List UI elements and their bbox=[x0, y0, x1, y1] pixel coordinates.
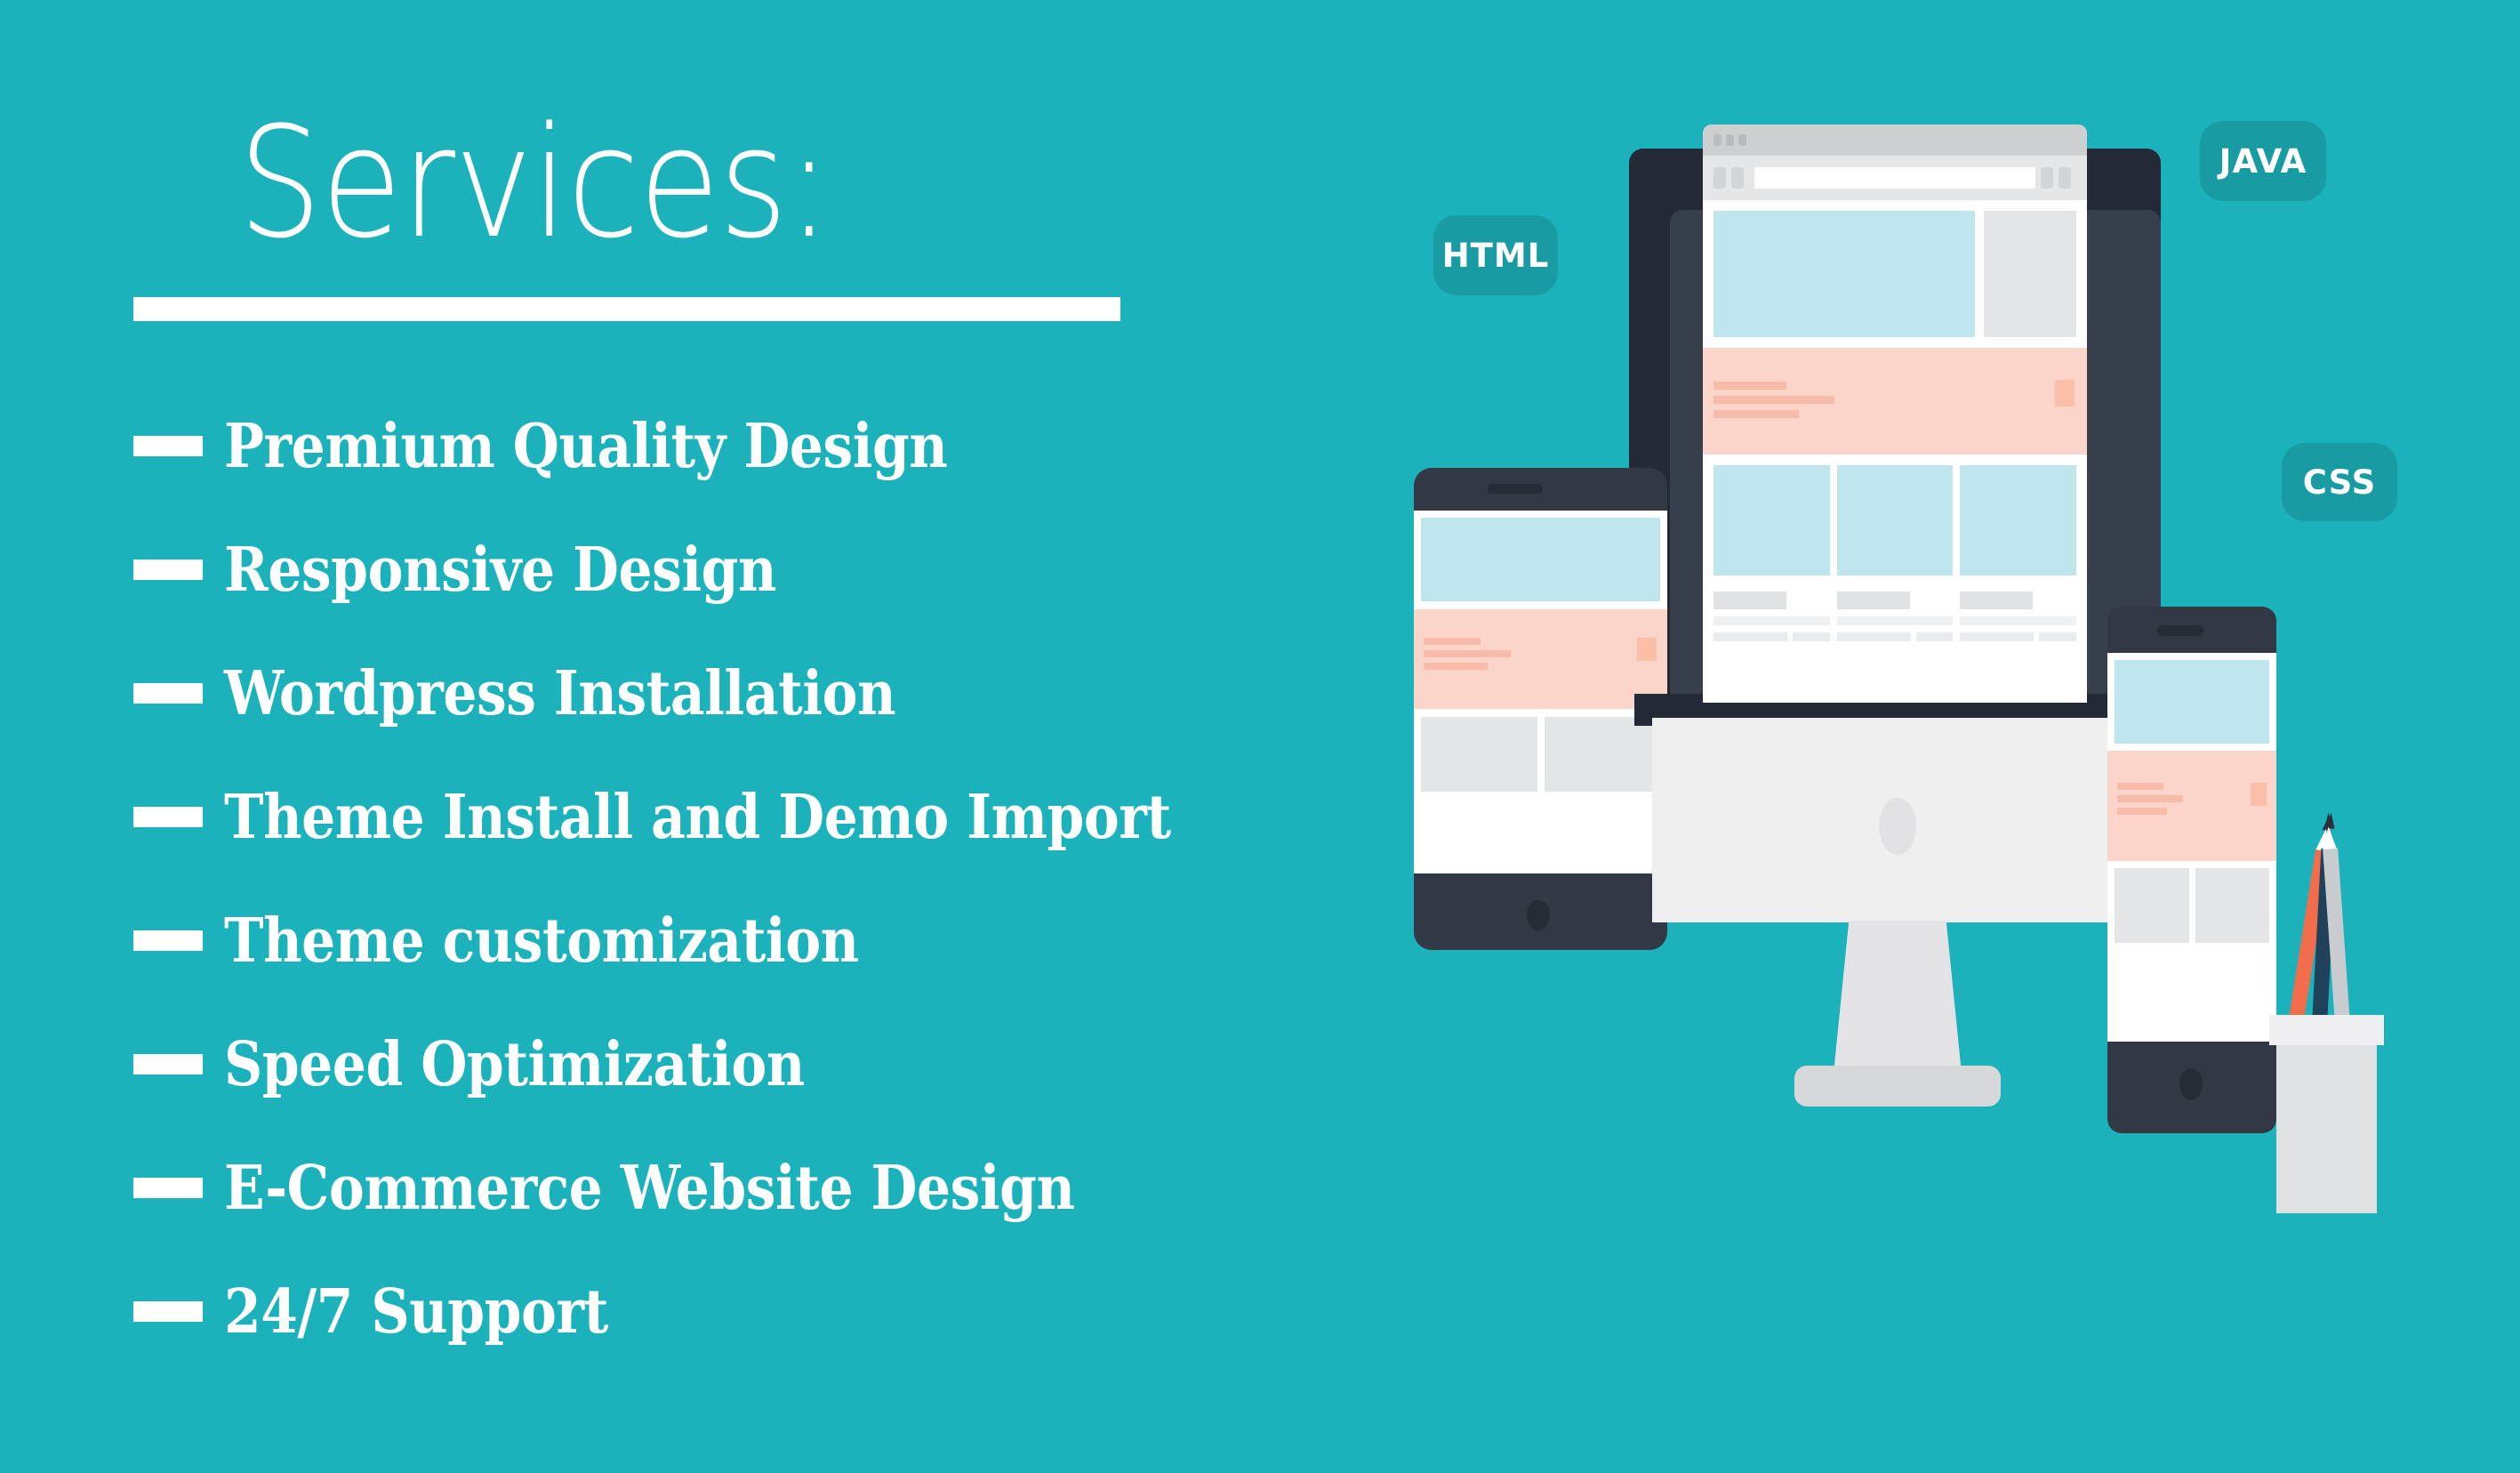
list-item: Theme Install and Demo Import bbox=[133, 755, 1423, 879]
phone-screen bbox=[2107, 653, 2276, 1042]
page-card-meta bbox=[1960, 632, 2076, 641]
list-item: E-Commerce Website Design bbox=[133, 1126, 1423, 1250]
monitor-stand-neck bbox=[1834, 921, 1962, 1074]
page-card-title bbox=[1960, 592, 2033, 609]
phone-card bbox=[2195, 868, 2270, 943]
phone-band-line bbox=[2117, 808, 2167, 815]
page-card-meta-item bbox=[1793, 632, 1830, 641]
list-item: 24/7 Support bbox=[133, 1250, 1423, 1373]
dash-bullet-icon bbox=[133, 930, 203, 951]
url-input[interactable] bbox=[1754, 167, 2035, 189]
pencil-tip-icon bbox=[2321, 826, 2337, 850]
tablet-band-line bbox=[1424, 638, 1481, 645]
page-card-line bbox=[1837, 616, 1954, 625]
list-item: Responsive Design bbox=[133, 508, 1423, 632]
window-dot-icon[interactable] bbox=[1713, 134, 1721, 146]
page-card bbox=[1837, 465, 1954, 641]
tablet-card bbox=[1421, 717, 1537, 792]
monitor-logo-icon bbox=[1879, 798, 1916, 855]
page-band-line bbox=[1713, 382, 1786, 390]
service-label: Theme Install and Demo Import bbox=[224, 787, 1171, 848]
tablet-band-line bbox=[1424, 663, 1488, 670]
list-item: Wordpress Installation bbox=[133, 632, 1423, 755]
window-dot-icon[interactable] bbox=[1738, 134, 1746, 146]
services-text-panel: Services: Premium Quality Design Respons… bbox=[0, 0, 1423, 1473]
tablet-home-button[interactable] bbox=[1527, 900, 1550, 930]
tablet-content-band bbox=[1414, 609, 1667, 709]
tablet-card-grid bbox=[1421, 717, 1660, 792]
page-band-box bbox=[2055, 380, 2075, 406]
forward-button-icon[interactable] bbox=[1731, 167, 1744, 189]
service-label: Wordpress Installation bbox=[224, 664, 895, 724]
service-label: Responsive Design bbox=[224, 540, 776, 600]
badge-java: JAVA bbox=[2200, 121, 2326, 201]
page-card-image bbox=[1837, 465, 1954, 576]
pencil-cup-body bbox=[2276, 1042, 2377, 1213]
monitor-stand-base bbox=[1794, 1066, 2001, 1107]
page-card-meta-item bbox=[1837, 632, 1911, 641]
service-label: Theme customization bbox=[224, 911, 859, 971]
page-card-line bbox=[1713, 616, 1830, 625]
back-button-icon[interactable] bbox=[1713, 167, 1726, 189]
bookmark-button-icon[interactable] bbox=[2041, 167, 2053, 189]
menu-button-icon[interactable] bbox=[2059, 167, 2071, 189]
page-card-meta bbox=[1837, 632, 1954, 641]
dash-bullet-icon bbox=[133, 559, 203, 580]
page-card-title bbox=[1713, 592, 1786, 609]
page-card-meta-item bbox=[1960, 632, 2034, 641]
badge-label: HTML bbox=[1442, 237, 1550, 275]
phone-content-band bbox=[2107, 751, 2276, 861]
phone-card bbox=[2115, 868, 2189, 943]
dash-bullet-icon bbox=[133, 436, 203, 456]
phone-band-box bbox=[2251, 783, 2267, 806]
dash-bullet-icon bbox=[133, 1178, 203, 1198]
badge-css: CSS bbox=[2282, 443, 2397, 521]
title-underline-rule bbox=[133, 297, 1120, 321]
page-band-line bbox=[1713, 410, 1799, 418]
pencil-cup-rim bbox=[2269, 1015, 2384, 1045]
page-hero-sidebar bbox=[1984, 211, 2076, 337]
list-item: Theme customization bbox=[133, 879, 1423, 1002]
page-hero-main bbox=[1713, 211, 1975, 337]
phone-hero-block bbox=[2115, 660, 2269, 744]
badge-label: CSS bbox=[2303, 463, 2376, 502]
dash-bullet-icon bbox=[133, 807, 203, 827]
service-label: Speed Optimization bbox=[224, 1034, 805, 1095]
page-card-image bbox=[1713, 465, 1830, 576]
page-card bbox=[1960, 465, 2076, 641]
service-label: E-Commerce Website Design bbox=[224, 1158, 1075, 1219]
devices-illustration: HTML JAVA CSS bbox=[1387, 125, 2520, 1281]
page-hero-row bbox=[1713, 211, 2076, 337]
services-list: Premium Quality Design Responsive Design… bbox=[133, 384, 1423, 1373]
tablet-screen bbox=[1414, 511, 1667, 873]
tablet-card bbox=[1545, 717, 1661, 792]
page-card-meta-item bbox=[1713, 632, 1787, 641]
tablet-band-box bbox=[1637, 638, 1657, 661]
browser-viewport bbox=[1703, 200, 2087, 703]
service-label: 24/7 Support bbox=[224, 1282, 608, 1342]
service-label: Premium Quality Design bbox=[224, 416, 947, 477]
page-card-image bbox=[1960, 465, 2076, 576]
dash-bullet-icon bbox=[133, 1301, 203, 1322]
page-card-grid bbox=[1713, 465, 2076, 641]
page-card-meta bbox=[1713, 632, 1830, 641]
tablet-band-line bbox=[1424, 650, 1511, 657]
phone-card-grid bbox=[2115, 868, 2269, 943]
browser-window bbox=[1703, 125, 2087, 703]
badge-html: HTML bbox=[1433, 215, 1558, 295]
page-card-meta-item bbox=[2039, 632, 2076, 641]
page-card-line bbox=[1960, 616, 2076, 625]
page-band-line bbox=[1713, 396, 1834, 404]
list-item: Speed Optimization bbox=[133, 1002, 1423, 1126]
phone-band-line bbox=[2117, 783, 2163, 790]
page-content-band bbox=[1703, 348, 2087, 455]
phone-speaker-icon bbox=[2157, 625, 2203, 636]
dash-bullet-icon bbox=[133, 683, 203, 704]
phone-home-button[interactable] bbox=[2179, 1068, 2203, 1100]
page-card-title bbox=[1837, 592, 1910, 609]
tablet-hero-block bbox=[1421, 518, 1660, 601]
page-card-meta-item bbox=[1916, 632, 1954, 641]
phone-band-line bbox=[2117, 795, 2183, 802]
window-dot-icon[interactable] bbox=[1726, 134, 1734, 146]
tablet-speaker-icon bbox=[1488, 484, 1543, 494]
page-card bbox=[1713, 465, 1830, 641]
browser-toolbar bbox=[1703, 156, 2087, 200]
list-item: Premium Quality Design bbox=[133, 384, 1423, 508]
browser-titlebar bbox=[1703, 125, 2087, 156]
page-title: Services: bbox=[238, 107, 831, 260]
dash-bullet-icon bbox=[133, 1054, 203, 1075]
badge-label: JAVA bbox=[2219, 142, 2307, 181]
